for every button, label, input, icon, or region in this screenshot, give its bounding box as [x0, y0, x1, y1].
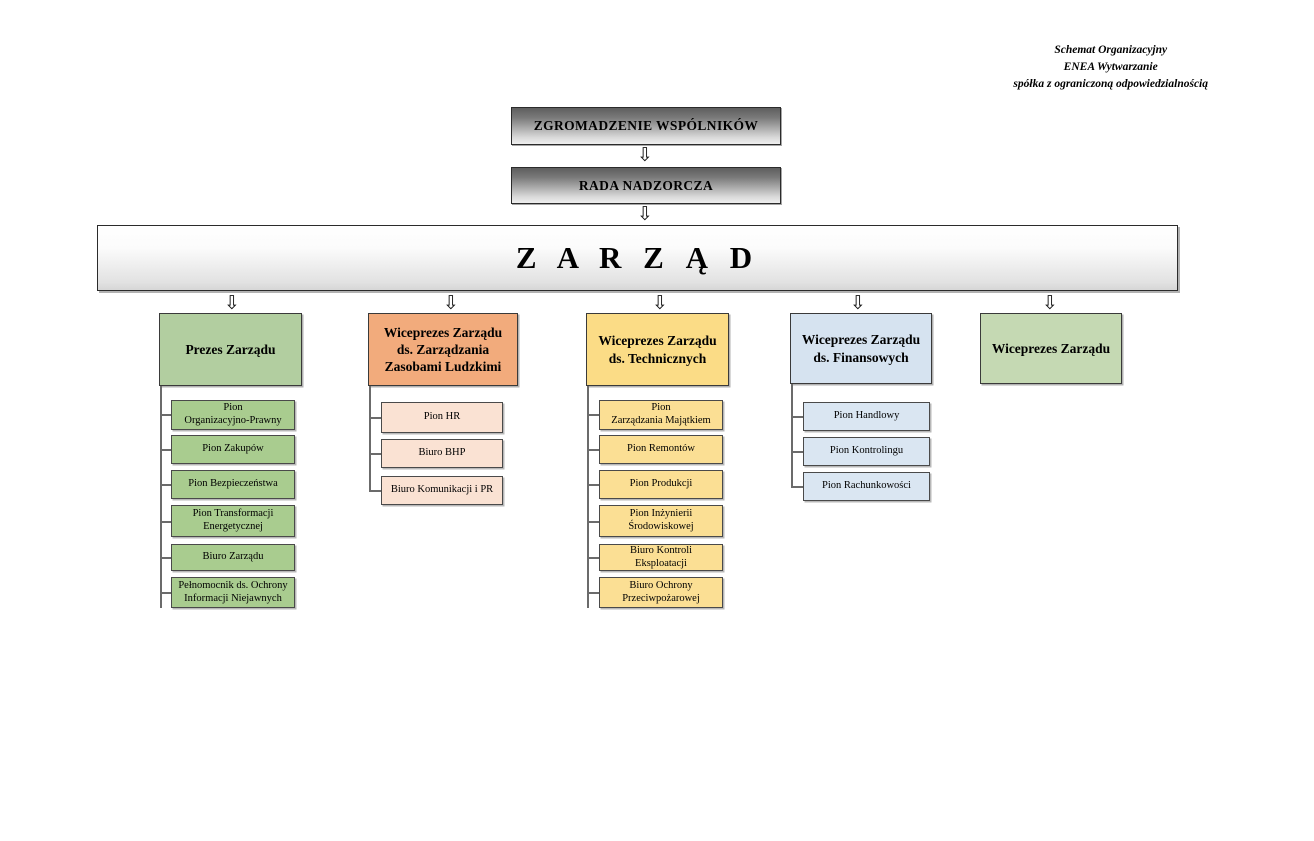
- leaf-0-4[interactable]: Biuro Zarządu: [171, 544, 295, 571]
- leaf-2-3-label: Pion InżynieriiŚrodowiskowej: [628, 508, 693, 534]
- head-prezes-zarzadu[interactable]: Prezes Zarządu: [159, 313, 302, 386]
- leaf-1-0-label: Pion HR: [424, 411, 460, 424]
- connector-stub-2-5: [587, 592, 599, 594]
- title-line-3: spółka z ograniczoną odpowiedzialnością: [1013, 76, 1208, 93]
- leaf-3-2-label: Pion Rachunkowości: [822, 480, 911, 493]
- arrow-down-icon-division-3: ⇩: [843, 294, 873, 313]
- leaf-0-1[interactable]: Pion Zakupów: [171, 435, 295, 464]
- leaf-3-1-label: Pion Kontrolingu: [830, 445, 903, 458]
- node-supervisory-board[interactable]: RADA NADZORCZA: [511, 167, 781, 204]
- leaf-2-0-label: PionZarządzania Majątkiem: [611, 402, 710, 428]
- connector-stub-3-0: [791, 416, 803, 418]
- connector-stub-2-3: [587, 521, 599, 523]
- arrow-down-icon-board-to-management: ⇩: [630, 205, 660, 224]
- connector-trunk-2: [587, 386, 589, 608]
- leaf-2-4-label: Biuro Kontroli Eksploatacji: [603, 545, 719, 571]
- connector-stub-2-4: [587, 557, 599, 559]
- leaf-0-3[interactable]: Pion TransformacjiEnergetycznej: [171, 505, 295, 537]
- connector-stub-0-3: [160, 521, 171, 523]
- leaf-2-5-label: Biuro OchronyPrzeciwpożarowej: [622, 580, 700, 606]
- leaf-3-0-label: Pion Handlowy: [834, 410, 900, 423]
- connector-stub-0-2: [160, 484, 171, 486]
- connector-stub-1-0: [369, 417, 381, 419]
- head-wiceprezes-hr-label: Wiceprezes Zarząduds. ZarządzaniaZasobam…: [384, 324, 502, 376]
- node-management-board-label: Z A R Z Ą D: [516, 240, 759, 276]
- connector-stub-2-0: [587, 414, 599, 416]
- leaf-0-0-label: PionOrganizacyjno-Prawny: [184, 402, 281, 428]
- head-wiceprezes-zarzadu-label: Wiceprezes Zarządu: [992, 340, 1110, 357]
- arrow-down-icon-assembly-to-board: ⇩: [630, 146, 660, 165]
- leaf-2-1-label: Pion Remontów: [627, 443, 695, 456]
- connector-stub-3-1: [791, 451, 803, 453]
- leaf-3-2[interactable]: Pion Rachunkowości: [803, 472, 930, 501]
- leaf-2-3[interactable]: Pion InżynieriiŚrodowiskowej: [599, 505, 723, 537]
- leaf-0-5-label: Pełnomocnik ds. OchronyInformacji Niejaw…: [178, 580, 287, 606]
- leaf-1-1[interactable]: Biuro BHP: [381, 439, 503, 468]
- title-line-2: ENEA Wytwarzanie: [1013, 59, 1208, 76]
- leaf-0-1-label: Pion Zakupów: [202, 443, 264, 456]
- connector-trunk-3: [791, 384, 793, 487]
- arrow-down-icon-division-0: ⇩: [217, 294, 247, 313]
- org-chart-canvas: Schemat Organizacyjny ENEA Wytwarzanie s…: [0, 0, 1314, 841]
- connector-stub-0-4: [160, 557, 171, 559]
- connector-stub-0-1: [160, 449, 171, 451]
- leaf-2-5[interactable]: Biuro OchronyPrzeciwpożarowej: [599, 577, 723, 608]
- connector-stub-0-0: [160, 414, 171, 416]
- leaf-0-2-label: Pion Bezpieczeństwa: [188, 478, 278, 491]
- connector-stub-1-1: [369, 453, 381, 455]
- leaf-0-0[interactable]: PionOrganizacyjno-Prawny: [171, 400, 295, 430]
- connector-trunk-1: [369, 386, 371, 491]
- head-prezes-zarzadu-label: Prezes Zarządu: [185, 341, 275, 358]
- leaf-1-2-label: Biuro Komunikacji i PR: [391, 484, 493, 497]
- head-wiceprezes-techniczny[interactable]: Wiceprezes Zarząduds. Technicznych: [586, 313, 729, 386]
- connector-stub-2-1: [587, 449, 599, 451]
- title-line-1: Schemat Organizacyjny: [1013, 42, 1208, 59]
- leaf-2-4[interactable]: Biuro Kontroli Eksploatacji: [599, 544, 723, 571]
- connector-stub-3-2: [791, 486, 803, 488]
- leaf-3-0[interactable]: Pion Handlowy: [803, 402, 930, 431]
- head-wiceprezes-finansowy[interactable]: Wiceprezes Zarząduds. Finansowych: [790, 313, 932, 384]
- head-wiceprezes-zarzadu[interactable]: Wiceprezes Zarządu: [980, 313, 1122, 384]
- leaf-3-1[interactable]: Pion Kontrolingu: [803, 437, 930, 466]
- leaf-2-2-label: Pion Produkcji: [630, 478, 693, 491]
- leaf-1-1-label: Biuro BHP: [419, 447, 466, 460]
- connector-stub-0-5: [160, 592, 171, 594]
- leaf-0-2[interactable]: Pion Bezpieczeństwa: [171, 470, 295, 499]
- node-management-board[interactable]: Z A R Z Ą D: [97, 225, 1178, 291]
- arrow-down-icon-division-4: ⇩: [1035, 294, 1065, 313]
- head-wiceprezes-techniczny-label: Wiceprezes Zarząduds. Technicznych: [598, 332, 716, 367]
- leaf-2-2[interactable]: Pion Produkcji: [599, 470, 723, 499]
- leaf-1-0[interactable]: Pion HR: [381, 402, 503, 433]
- leaf-2-0[interactable]: PionZarządzania Majątkiem: [599, 400, 723, 430]
- leaf-2-1[interactable]: Pion Remontów: [599, 435, 723, 464]
- head-wiceprezes-hr[interactable]: Wiceprezes Zarząduds. ZarządzaniaZasobam…: [368, 313, 518, 386]
- leaf-0-3-label: Pion TransformacjiEnergetycznej: [193, 508, 274, 534]
- connector-trunk-0: [160, 386, 162, 608]
- node-assembly-label: ZGROMADZENIE WSPÓLNIKÓW: [534, 118, 759, 134]
- leaf-0-4-label: Biuro Zarządu: [203, 551, 264, 564]
- connector-stub-1-2: [369, 490, 381, 492]
- connector-stub-2-2: [587, 484, 599, 486]
- title-block: Schemat Organizacyjny ENEA Wytwarzanie s…: [1013, 42, 1208, 93]
- leaf-1-2[interactable]: Biuro Komunikacji i PR: [381, 476, 503, 505]
- node-assembly[interactable]: ZGROMADZENIE WSPÓLNIKÓW: [511, 107, 781, 145]
- head-wiceprezes-finansowy-label: Wiceprezes Zarząduds. Finansowych: [802, 331, 920, 366]
- arrow-down-icon-division-1: ⇩: [436, 294, 466, 313]
- leaf-0-5[interactable]: Pełnomocnik ds. OchronyInformacji Niejaw…: [171, 577, 295, 608]
- arrow-down-icon-division-2: ⇩: [645, 294, 675, 313]
- node-supervisory-board-label: RADA NADZORCZA: [579, 178, 713, 194]
